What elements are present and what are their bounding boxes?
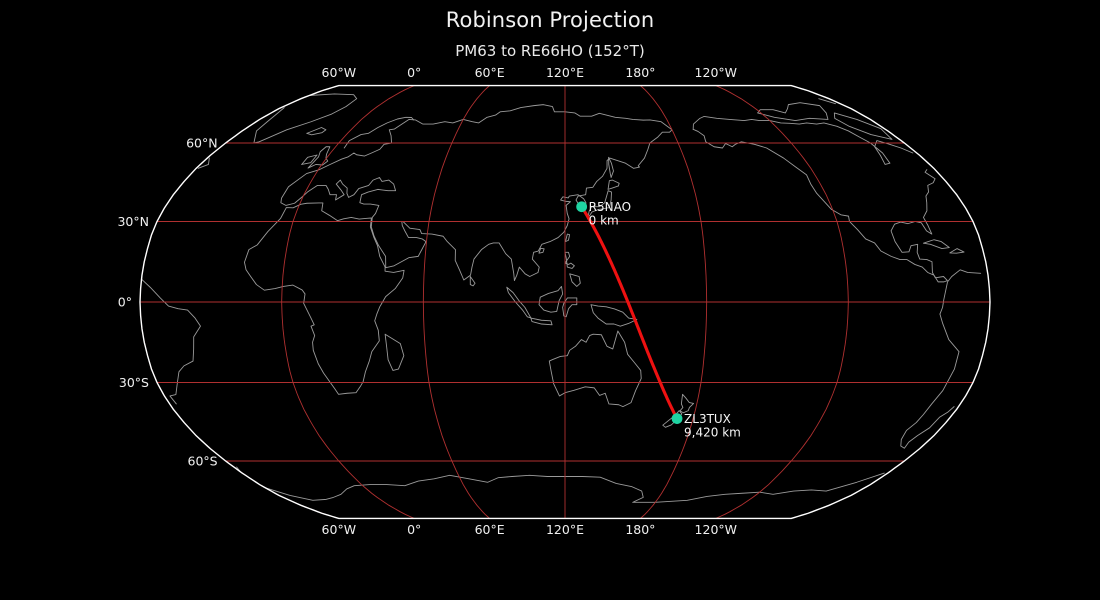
station-callsign-r5nao: R5NAO	[589, 200, 631, 214]
lon-tick-bottom-5: 60°W	[322, 522, 357, 537]
lon-tick-top-3: 180°	[625, 65, 655, 80]
robinson-map: 0°60°E120°E180°120°W60°W 0°60°E120°E180°…	[0, 0, 1100, 600]
lon-tick-top-1: 60°E	[475, 65, 505, 80]
station-distance-r5nao: 0 km	[589, 214, 619, 228]
lat-tick-3: 30°S	[119, 375, 149, 390]
lat-tick-2: 0°	[118, 295, 132, 310]
lat-tick-1: 30°N	[117, 214, 149, 229]
station-marker-zl3tux[interactable]	[672, 413, 683, 424]
station-distance-zl3tux: 9,420 km	[684, 426, 741, 440]
lon-tick-bottom-4: 120°W	[695, 522, 737, 537]
lon-tick-top-2: 120°E	[546, 65, 584, 80]
map-figure: Robinson Projection PM63 to RE66HO (152°…	[0, 0, 1100, 600]
lon-tick-bottom-1: 60°E	[475, 522, 505, 537]
lon-tick-top-0: 0°	[407, 65, 421, 80]
lon-tick-bottom-2: 120°E	[546, 522, 584, 537]
station-marker-r5nao[interactable]	[576, 201, 587, 212]
lon-tick-bottom-0: 0°	[407, 522, 421, 537]
lat-tick-4: 60°S	[188, 453, 218, 468]
station-callsign-zl3tux: ZL3TUX	[684, 412, 731, 426]
lon-tick-bottom-3: 180°	[625, 522, 655, 537]
lat-tick-0: 60°N	[186, 136, 218, 151]
lon-tick-top-4: 120°W	[695, 65, 737, 80]
longitude-ticks-bottom: 0°60°E120°E180°120°W60°W	[322, 522, 737, 537]
longitude-ticks-top: 0°60°E120°E180°120°W60°W	[322, 65, 737, 80]
lon-tick-top-5: 60°W	[322, 65, 357, 80]
